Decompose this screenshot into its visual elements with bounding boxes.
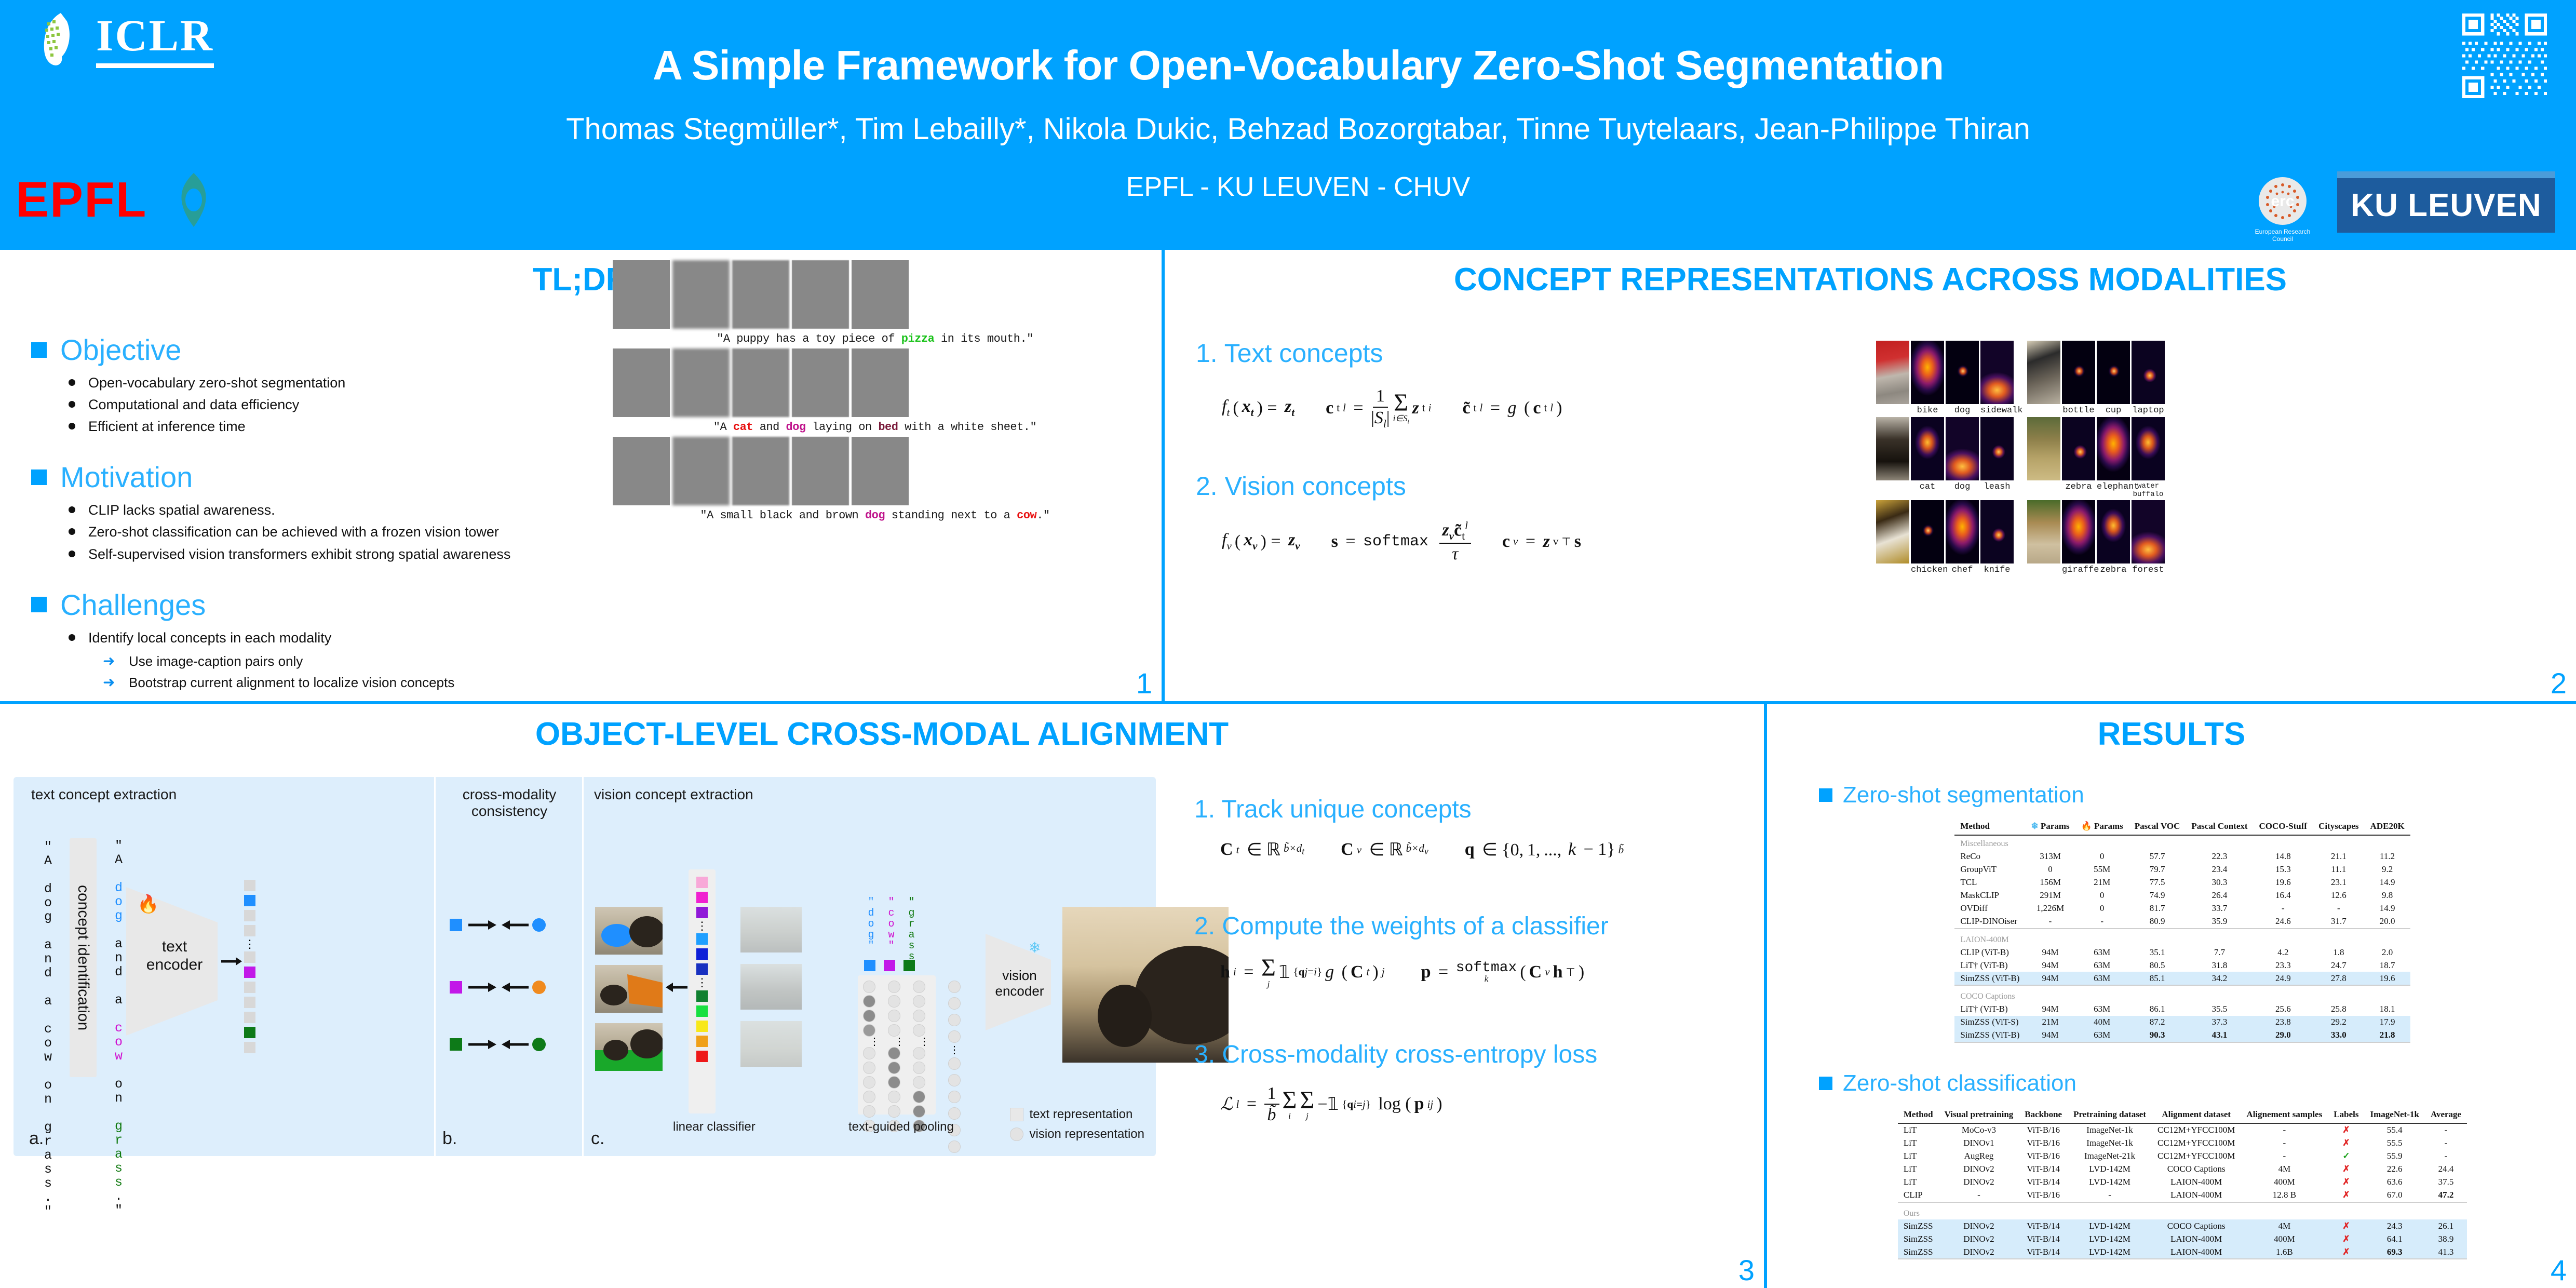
segmentation-map: [792, 437, 849, 505]
table-cell: 26.1: [2425, 1219, 2467, 1232]
step-heading-text-concepts: 1. Text concepts: [1196, 338, 1845, 368]
table-cell: 26.4: [2186, 889, 2253, 902]
table-cell: 38.9: [2425, 1232, 2467, 1245]
caption-plain-vertical: "A dog and a cow on grass.": [41, 839, 56, 1220]
embedding-chip: [244, 982, 255, 993]
list-item: Self-supervised vision transformers exhi…: [88, 543, 597, 565]
embedding-chip: [244, 910, 255, 921]
legend-square-icon: [1010, 1108, 1023, 1121]
table-cell: 7.7: [2186, 946, 2253, 959]
table-cell: ✗: [2328, 1176, 2364, 1189]
challenges-bullets: Identify local concepts in each modality: [31, 627, 597, 649]
table-cell: -: [2425, 1150, 2467, 1163]
table-cell: 16.4: [2254, 889, 2313, 902]
vision-token: [948, 1057, 961, 1070]
figure-row-puppy: "A puppy has a toy piece of pizza in its…: [613, 260, 1137, 345]
table-cell: LAION-400M: [2152, 1232, 2241, 1245]
column-header: Backbone: [2019, 1108, 2068, 1123]
table-cell: 34.2: [2186, 972, 2253, 985]
table-cell: 85.1: [2129, 972, 2186, 985]
table-cell: 291M: [2025, 889, 2075, 902]
table-cell: SimZSS (ViT-S): [1954, 1016, 2025, 1029]
table-cell: LiT† (ViT-B): [1954, 959, 2025, 972]
source-image: [2027, 500, 2060, 563]
table-cell: AugReg: [1939, 1150, 2019, 1163]
segmentation-results-table: Method❄ Params🔥 ParamsPascal VOCPascal C…: [1954, 820, 2410, 1044]
table-cell: LiT: [1898, 1150, 1939, 1163]
list-item: CLIP lacks spatial awareness.: [88, 499, 597, 521]
table-cell: 43.1: [2186, 1029, 2253, 1042]
table-group-label: COCO Captions: [1954, 988, 2410, 1003]
table-cell: CC12M+YFCC100M: [2152, 1123, 2241, 1137]
concept-label: knife: [1980, 565, 2014, 575]
concept-group-bottle: bottle cup laptop: [2027, 341, 2165, 415]
cross-icon: ✗: [2342, 1125, 2350, 1135]
step-heading-classifier-weights: 2. Compute the weights of a classifier: [1194, 912, 1745, 941]
table-cell: CLIP: [1898, 1189, 1939, 1202]
table-cell: -: [2241, 1137, 2328, 1150]
table-cell: 0: [2025, 863, 2075, 876]
diagram-letter-b: b.: [442, 1129, 457, 1149]
heatmap: [1946, 417, 1979, 480]
table-cell: 24.4: [2425, 1163, 2467, 1176]
caption-token: laying on: [806, 421, 879, 434]
table-cell: 94M: [2025, 1029, 2075, 1042]
tldr-section-motivation: Motivation CLIP lacks spatial awareness.…: [31, 460, 597, 565]
source-image: [1876, 500, 1909, 563]
table-cell: SimZSS: [1898, 1245, 1939, 1259]
source-image: [613, 260, 670, 329]
vision-token: [913, 995, 925, 1008]
vision-token: [913, 1047, 925, 1059]
segmentation-map: [792, 260, 849, 329]
vision-token: [888, 1062, 900, 1074]
source-image: [613, 348, 670, 417]
heatmap: [2097, 500, 2130, 563]
concept-group-zebra: zebra elephant water buffalo: [2027, 417, 2165, 499]
heatmap: [2132, 500, 2165, 563]
section-heading-challenges: Challenges: [60, 588, 206, 622]
legend-circle-icon: [1010, 1128, 1023, 1141]
table-cell: 0: [2075, 850, 2129, 863]
table-cell: 24.6: [2254, 915, 2313, 929]
concept-label: bottle: [2062, 406, 2095, 415]
table-cell: 0: [2075, 889, 2129, 902]
segmentation-map: [672, 348, 730, 417]
group-name: COCO Captions: [1954, 988, 2410, 1003]
tldr-section-challenges: Challenges Identify local concepts in ea…: [31, 588, 597, 694]
qr-code[interactable]: [2459, 10, 2550, 101]
table-cell: 55.9: [2365, 1150, 2425, 1163]
table-cell: 27.8: [2313, 972, 2364, 985]
table-group-label: Miscellaneous: [1954, 835, 2410, 850]
vertical-ellipsis-icon: ⋮: [888, 1039, 911, 1045]
embedding-chip: [244, 1042, 255, 1053]
consistency-pair-grass: [450, 1037, 554, 1055]
table-cell: 20.0: [2365, 915, 2410, 929]
caption-token: pizza: [901, 332, 935, 345]
source-image: [2027, 417, 2060, 480]
vertical-ellipsis-icon: ⋮: [244, 940, 255, 948]
text-embedding-column: ⋮: [244, 880, 255, 1053]
affiliation-list: EPFL - KU LEUVEN - CHUV: [467, 171, 2129, 203]
caption-token: with a white sheet.": [898, 421, 1036, 434]
heatmap: [1980, 341, 2014, 404]
vision-token: [888, 1076, 900, 1089]
table-cell: MaskCLIP: [1954, 889, 2025, 902]
embedding-chip-grass: [244, 1027, 255, 1038]
table-cell: SimZSS (ViT-B): [1954, 972, 2025, 985]
vision-token: [863, 1105, 875, 1118]
tldr-figure-grid: "A puppy has a toy piece of pizza in its…: [613, 260, 1137, 525]
challenges-subbullets: Use image-caption pairs only Bootstrap c…: [31, 651, 597, 694]
objective-bullets: Open-vocabulary zero-shot segmentation C…: [31, 372, 597, 437]
table-cell: 313M: [2025, 850, 2075, 863]
heatmap: [2097, 417, 2130, 480]
concept-label: forest: [2132, 565, 2165, 575]
column-header: COCO-Stuff: [2254, 820, 2313, 835]
table-row: LiTMoCo-v3ViT-B/16ImageNet-1kCC12M+YFCC1…: [1898, 1123, 2467, 1137]
table-row: SimZSS (ViT-S)21M40M87.237.323.829.217.9: [1954, 1016, 2410, 1029]
table-row: MaskCLIP291M074.926.416.412.69.8: [1954, 889, 2410, 902]
table-cell: TCL: [1954, 876, 2025, 889]
concept-grid-row: cat dog leash zebra elephant water buffa…: [1876, 417, 2165, 499]
column-header: ImageNet-1k: [2365, 1108, 2425, 1123]
caption-token: cat: [733, 421, 753, 434]
concept-label: water buffalo: [2132, 482, 2165, 499]
table-row: CLIP-DINOiser--80.935.924.631.720.0: [1954, 915, 2410, 929]
vertical-ellipsis-icon: ⋮: [948, 1047, 961, 1053]
concept-label: leash: [1980, 482, 2014, 492]
section-heading-objective: Objective: [60, 333, 181, 367]
table-cell: LAION-400M: [2152, 1245, 2241, 1259]
diagram-title-c: vision concept extraction: [594, 786, 753, 803]
concept-label: sidewalk: [1980, 406, 2014, 415]
epfl-logo: EPFL: [16, 171, 215, 229]
concept-label: zebra: [2062, 482, 2095, 499]
vision-token: [913, 1024, 925, 1037]
heatmap: [2062, 341, 2095, 404]
table-cell: DINOv2: [1939, 1245, 2019, 1259]
table-cell: 9.8: [2365, 889, 2410, 902]
check-icon: ✓: [2342, 1151, 2350, 1161]
pooling-chip-cow: [884, 960, 895, 971]
table-row: SimZSS (ViT-B)94M63M85.134.224.927.819.6: [1954, 972, 2410, 985]
classifier-chip: [696, 1051, 708, 1062]
table-cell: 21M: [2075, 876, 2129, 889]
vision-token: [913, 1062, 925, 1074]
table-cell: LVD-142M: [2068, 1163, 2152, 1176]
table-row: SimZSS (ViT-B)94M63M90.343.129.033.021.8: [1954, 1029, 2410, 1042]
iclr-wordmark: ICLR: [96, 9, 214, 68]
embedding-chip-cow: [244, 967, 255, 978]
table-group-label: Ours: [1898, 1205, 2467, 1220]
table-bottom-rule: [1954, 1042, 2410, 1044]
equation-classifier-weights: hi = Σj 𝟙{qj=i}g (Ct)j p = softmaxk (Cvh…: [1194, 956, 1745, 988]
concept-label: cup: [2097, 406, 2130, 415]
heatmap: [2132, 417, 2165, 480]
panel-alignment: OBJECT-LEVEL CROSS-MODAL ALIGNMENT 3 tex…: [0, 703, 1765, 1288]
vision-token: [948, 1014, 961, 1026]
column-header: Cityscapes: [2313, 820, 2364, 835]
table-cell: 67.0: [2365, 1189, 2425, 1202]
classifier-chip: [696, 990, 708, 1002]
vision-token: [913, 1076, 925, 1089]
table-cell: 94M: [2025, 1003, 2075, 1016]
concept-label: elephant: [2097, 482, 2130, 499]
table-cell: LAION-400M: [2152, 1176, 2241, 1189]
group-name: Ours: [1898, 1205, 2467, 1220]
vision-token: [948, 997, 961, 1010]
table-cell: 63M: [2075, 959, 2129, 972]
table-cell: 156M: [2025, 876, 2075, 889]
table-cell: 11.1: [2313, 863, 2364, 876]
epfl-wordmark: EPFL: [16, 171, 147, 229]
table-cell: 69.3: [2365, 1245, 2425, 1259]
cross-icon: ✗: [2342, 1138, 2350, 1148]
table-header-row: MethodVisual pretrainingBackbonePretrain…: [1898, 1108, 2467, 1123]
table-cell: 19.6: [2365, 972, 2410, 985]
table-cell: -: [1939, 1189, 2019, 1202]
vertical-ellipsis-icon: ⋮: [696, 922, 708, 930]
table-cell: LiT: [1898, 1123, 1939, 1137]
alignment-diagram: text concept extraction cross-modality c…: [14, 777, 1156, 1156]
erc-caption: European Research Council: [2244, 228, 2322, 243]
table-cell: COCO Captions: [2152, 1219, 2241, 1232]
caption-token: dog: [786, 421, 806, 434]
segmentation-map: [852, 348, 909, 417]
table-cell: -: [2425, 1123, 2467, 1137]
results-heading-segmentation: Zero-shot segmentation: [1819, 782, 2546, 808]
table-cell: -: [2313, 902, 2364, 915]
table-cell: ✗: [2328, 1163, 2364, 1176]
table-row: LiTDINOv2ViT-B/14LVD-142MCOCO Captions4M…: [1898, 1163, 2467, 1176]
heatmap: [2132, 341, 2165, 404]
embedding-chip: [244, 997, 255, 1008]
vision-token: [863, 1047, 875, 1059]
arrow-right-icon: [221, 955, 242, 968]
column-header: Method: [1898, 1108, 1939, 1123]
table-row: GroupViT055M79.723.415.311.19.2: [1954, 863, 2410, 876]
table-row: LiT† (ViT-B)94M63M80.531.823.324.718.7: [1954, 959, 2410, 972]
table-cell: LVD-142M: [2068, 1219, 2152, 1232]
table-row: LiT† (ViT-B)94M63M86.135.525.625.818.1: [1954, 1003, 2410, 1016]
table-cell: LiT: [1898, 1176, 1939, 1189]
figure-row-catdog: "A cat and dog laying on bed with a whit…: [613, 348, 1137, 434]
figure-caption: "A puppy has a toy piece of pizza in its…: [613, 332, 1137, 345]
classifier-chip: [696, 892, 708, 903]
heatmap: [1911, 341, 1944, 404]
caption-token: cow: [1017, 509, 1036, 522]
panel-alignment-title: OBJECT-LEVEL CROSS-MODAL ALIGNMENT: [0, 716, 1764, 753]
table-cell: ✗: [2328, 1123, 2364, 1137]
caption-token: .": [1036, 509, 1049, 522]
diagram-title-a: text concept extraction: [31, 786, 177, 803]
table-cell: 64.1: [2365, 1232, 2425, 1245]
concept-equations: 1. Text concepts ft(xt) = zt ctl = 1|Sl|…: [1196, 338, 1845, 605]
bullet-square-icon: [31, 469, 47, 485]
table-row: TCL156M21M77.530.319.623.114.9: [1954, 876, 2410, 889]
panel-alignment-number: 3: [1738, 1253, 1755, 1287]
vertical-ellipsis-icon: ⋮: [863, 1039, 886, 1045]
table-row: CLIP-ViT-B/16-LAION-400M12.8 B✗67.047.2: [1898, 1189, 2467, 1202]
figure-caption: "A small black and brown dog standing ne…: [613, 509, 1137, 522]
group-name: LAION-400M: [1954, 932, 2410, 946]
table-cell: COCO Captions: [2152, 1163, 2241, 1176]
table-cell: ✗: [2328, 1245, 2364, 1259]
table-cell: DINOv2: [1939, 1232, 2019, 1245]
source-image: [1876, 417, 1909, 480]
segmentation-map: [672, 437, 730, 505]
table-cell: OVDiff: [1954, 902, 2025, 915]
bullet-square-icon: [31, 342, 47, 358]
table-cell: ✓: [2328, 1150, 2364, 1163]
table-cell: 87.2: [2129, 1016, 2186, 1029]
table-cell: CC12M+YFCC100M: [2152, 1137, 2241, 1150]
table-row: LiTDINOv1ViT-B/16ImageNet-1kCC12M+YFCC10…: [1898, 1137, 2467, 1150]
table-cell: 79.7: [2129, 863, 2186, 876]
caption-token: "A small black and brown: [700, 509, 865, 522]
table-cell: -: [2025, 915, 2075, 929]
table-cell: LiT: [1898, 1163, 1939, 1176]
legend-label-text: text representation: [1030, 1107, 1133, 1122]
fire-icon: 🔥: [2081, 821, 2092, 831]
faded-image: [740, 964, 802, 1010]
snowflake-icon: ❄: [2031, 821, 2038, 831]
table-cell: 21.1: [2313, 850, 2364, 863]
table-cell: DINOv1: [1939, 1137, 2019, 1150]
classifier-chip: [696, 1005, 708, 1017]
table-cell: 77.5: [2129, 876, 2186, 889]
table-cell: CLIP (ViT-B): [1954, 946, 2025, 959]
table-cell: 2.0: [2365, 946, 2410, 959]
group-name: Miscellaneous: [1954, 835, 2410, 850]
heatmap: [2097, 341, 2130, 404]
classifier-chip: [696, 933, 708, 945]
alignment-steps: 1. Track unique concepts Ct ∈ ℝb̃×dt Cv …: [1194, 795, 1745, 1124]
concept-grid-row: chicken chef knife giraffe zebra forest: [1876, 500, 2165, 575]
vision-token: [888, 1010, 900, 1022]
vision-token: [863, 995, 875, 1008]
table-cell: 24.7: [2313, 959, 2364, 972]
table-cell: ✗: [2328, 1232, 2364, 1245]
concept-group-bike: bike dog sidewalk: [1876, 341, 2014, 415]
table-cell: 17.9: [2365, 1016, 2410, 1029]
masked-image-dog: [595, 907, 663, 955]
table-cell: 55M: [2075, 863, 2129, 876]
table-cell: 30.3: [2186, 876, 2253, 889]
table-cell: 29.0: [2254, 1029, 2313, 1042]
concept-group-chicken: chicken chef knife: [1876, 500, 2014, 575]
embedding-chip: [244, 880, 255, 891]
table-cell: 18.7: [2365, 959, 2410, 972]
table-cell: 63M: [2075, 946, 2129, 959]
list-item: Efficient at inference time: [88, 415, 597, 437]
consistency-pair-cow: [450, 980, 554, 998]
table-cell: 63M: [2075, 1029, 2129, 1042]
vision-token: [948, 1030, 961, 1043]
table-cell: 25.6: [2254, 1003, 2313, 1016]
bullet-square-icon: [1819, 788, 1832, 802]
faded-image: [740, 907, 802, 952]
table-row: CLIP (ViT-B)94M63M35.17.74.21.82.0: [1954, 946, 2410, 959]
table-cell: 24.3: [2365, 1219, 2425, 1232]
table-cell: SimZSS: [1898, 1219, 1939, 1232]
heatmap: [1946, 341, 1979, 404]
table-row: SimZSSDINOv2ViT-B/14LVD-142MLAION-400M1.…: [1898, 1245, 2467, 1259]
concept-label: cat: [1911, 482, 1944, 492]
heatmap: [1980, 500, 2014, 563]
concept-group-cat: cat dog leash: [1876, 417, 2014, 499]
masked-image-cow: [595, 965, 663, 1013]
table-cell: 15.3: [2254, 863, 2313, 876]
embedding-chip: [244, 951, 255, 963]
vision-token: [913, 981, 925, 993]
table-cell: 25.8: [2313, 1003, 2364, 1016]
table-cell: ViT-B/16: [2019, 1189, 2068, 1202]
pooling-chip-dog: [864, 960, 875, 971]
segmentation-map: [732, 437, 789, 505]
tldr-section-objective: Objective Open-vocabulary zero-shot segm…: [31, 333, 597, 437]
table-cell: 22.3: [2186, 850, 2253, 863]
panel-tldr-number: 1: [1136, 666, 1152, 700]
panel-results: RESULTS 4 Zero-shot segmentation Method❄…: [1765, 703, 2576, 1288]
diagram-legend: text representation vision representatio…: [1010, 1107, 1144, 1147]
table-cell: DINOv2: [1939, 1176, 2019, 1189]
table-row: LiTDINOv2ViT-B/14LVD-142MLAION-400M400M✗…: [1898, 1176, 2467, 1189]
table-cell: LAION-400M: [2152, 1189, 2241, 1202]
vision-token: [863, 1062, 875, 1074]
classifier-chip: [696, 948, 708, 960]
list-item: Open-vocabulary zero-shot segmentation: [88, 372, 597, 394]
table-cell: 41.3: [2425, 1245, 2467, 1259]
list-item: Zero-shot classification can be achieved…: [88, 521, 597, 543]
table-cell: ViT-B/14: [2019, 1232, 2068, 1245]
table-cell: CC12M+YFCC100M: [2152, 1150, 2241, 1163]
figure-row-dogcow: "A small black and brown dog standing ne…: [613, 437, 1137, 522]
vision-token: [948, 981, 961, 993]
table-cell: 90.3: [2129, 1029, 2186, 1042]
table-cell: ViT-B/16: [2019, 1123, 2068, 1137]
column-header: Labels: [2328, 1108, 2364, 1123]
table-cell: 23.1: [2313, 876, 2364, 889]
table-row: SimZSSDINOv2ViT-B/14LVD-142MLAION-400M40…: [1898, 1232, 2467, 1245]
vertical-ellipsis-icon: ⋮: [913, 1039, 936, 1045]
table-cell: 63M: [2075, 972, 2129, 985]
table-cell: -: [2425, 1137, 2467, 1150]
table-cell: 18.1: [2365, 1003, 2410, 1016]
table-cell: 11.2: [2365, 850, 2410, 863]
diagram-letter-a: a.: [29, 1129, 44, 1149]
table-cell: 23.3: [2254, 959, 2313, 972]
chuv-logo-icon: [172, 172, 215, 228]
caption-token: dog: [865, 509, 885, 522]
pooling-matrix: ⋮ ⋮ ⋮: [863, 981, 936, 1132]
table-cell: -: [2075, 915, 2129, 929]
panel-concepts-number: 2: [2551, 666, 2567, 700]
table-cell: 1.8: [2313, 946, 2364, 959]
table-cell: 23.8: [2254, 1016, 2313, 1029]
table-row: SimZSSDINOv2ViT-B/14LVD-142MCOCO Caption…: [1898, 1219, 2467, 1232]
segmentation-map: [852, 437, 909, 505]
iclr-bird-icon: [29, 11, 85, 67]
column-header: Pascal VOC: [2129, 820, 2186, 835]
equation-vision-concepts: fv(xv) = zv s = softmax zvc̃tlτ cv = zv⊤…: [1196, 520, 1845, 563]
column-header: Visual pretraining: [1939, 1108, 2019, 1123]
panel-tldr: TL;DR 1 Objective Open-vocabulary zero-s…: [0, 248, 1163, 703]
table-cell: LVD-142M: [2068, 1176, 2152, 1189]
table-group-label: LAION-400M: [1954, 932, 2410, 946]
